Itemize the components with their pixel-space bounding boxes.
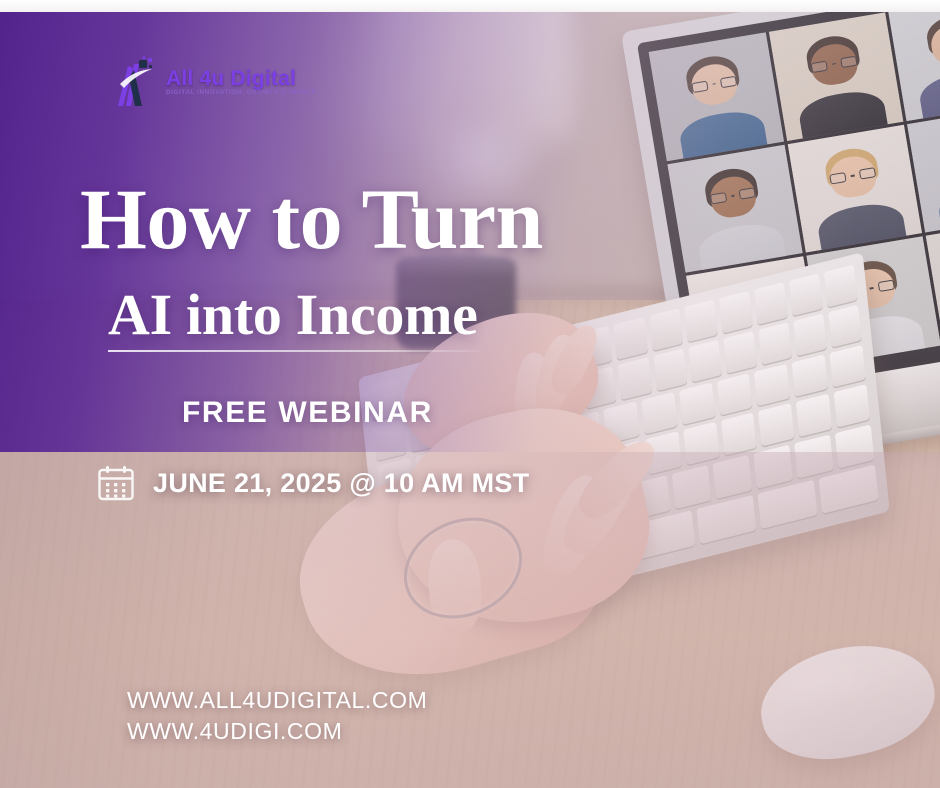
subheadline-block: AI into Income: [108, 286, 488, 352]
subheadline-underline: [108, 350, 488, 352]
subheadline: AI into Income: [108, 286, 488, 344]
headline: How to Turn: [80, 178, 543, 261]
poster-content: All 4u Digital DIGITAL INNOVATION, GROWT…: [0, 0, 940, 788]
footer-urls: WWW.ALL4UDIGITAL.COM WWW.4UDIGI.COM: [127, 686, 427, 745]
website-url-secondary[interactable]: WWW.4UDIGI.COM: [127, 717, 427, 745]
brand-name: All 4u Digital: [166, 68, 316, 89]
all4u-digital-a-mark-icon: [112, 56, 156, 108]
free-webinar-badge: FREE WEBINAR: [182, 396, 433, 430]
brand-logo[interactable]: All 4u Digital DIGITAL INNOVATION, GROWT…: [112, 56, 316, 108]
website-url-primary[interactable]: WWW.ALL4UDIGITAL.COM: [127, 686, 427, 714]
brand-tagline: DIGITAL INNOVATION, GROWTH & IMPACT: [166, 90, 316, 96]
event-date-text: JUNE 21, 2025 @ 10 AM MST: [153, 468, 529, 499]
webinar-promo-poster: All 4u Digital DIGITAL INNOVATION, GROWT…: [0, 0, 940, 788]
calendar-icon: [97, 464, 135, 502]
logo-text: All 4u Digital DIGITAL INNOVATION, GROWT…: [166, 68, 316, 96]
event-date-row: JUNE 21, 2025 @ 10 AM MST: [97, 464, 529, 502]
